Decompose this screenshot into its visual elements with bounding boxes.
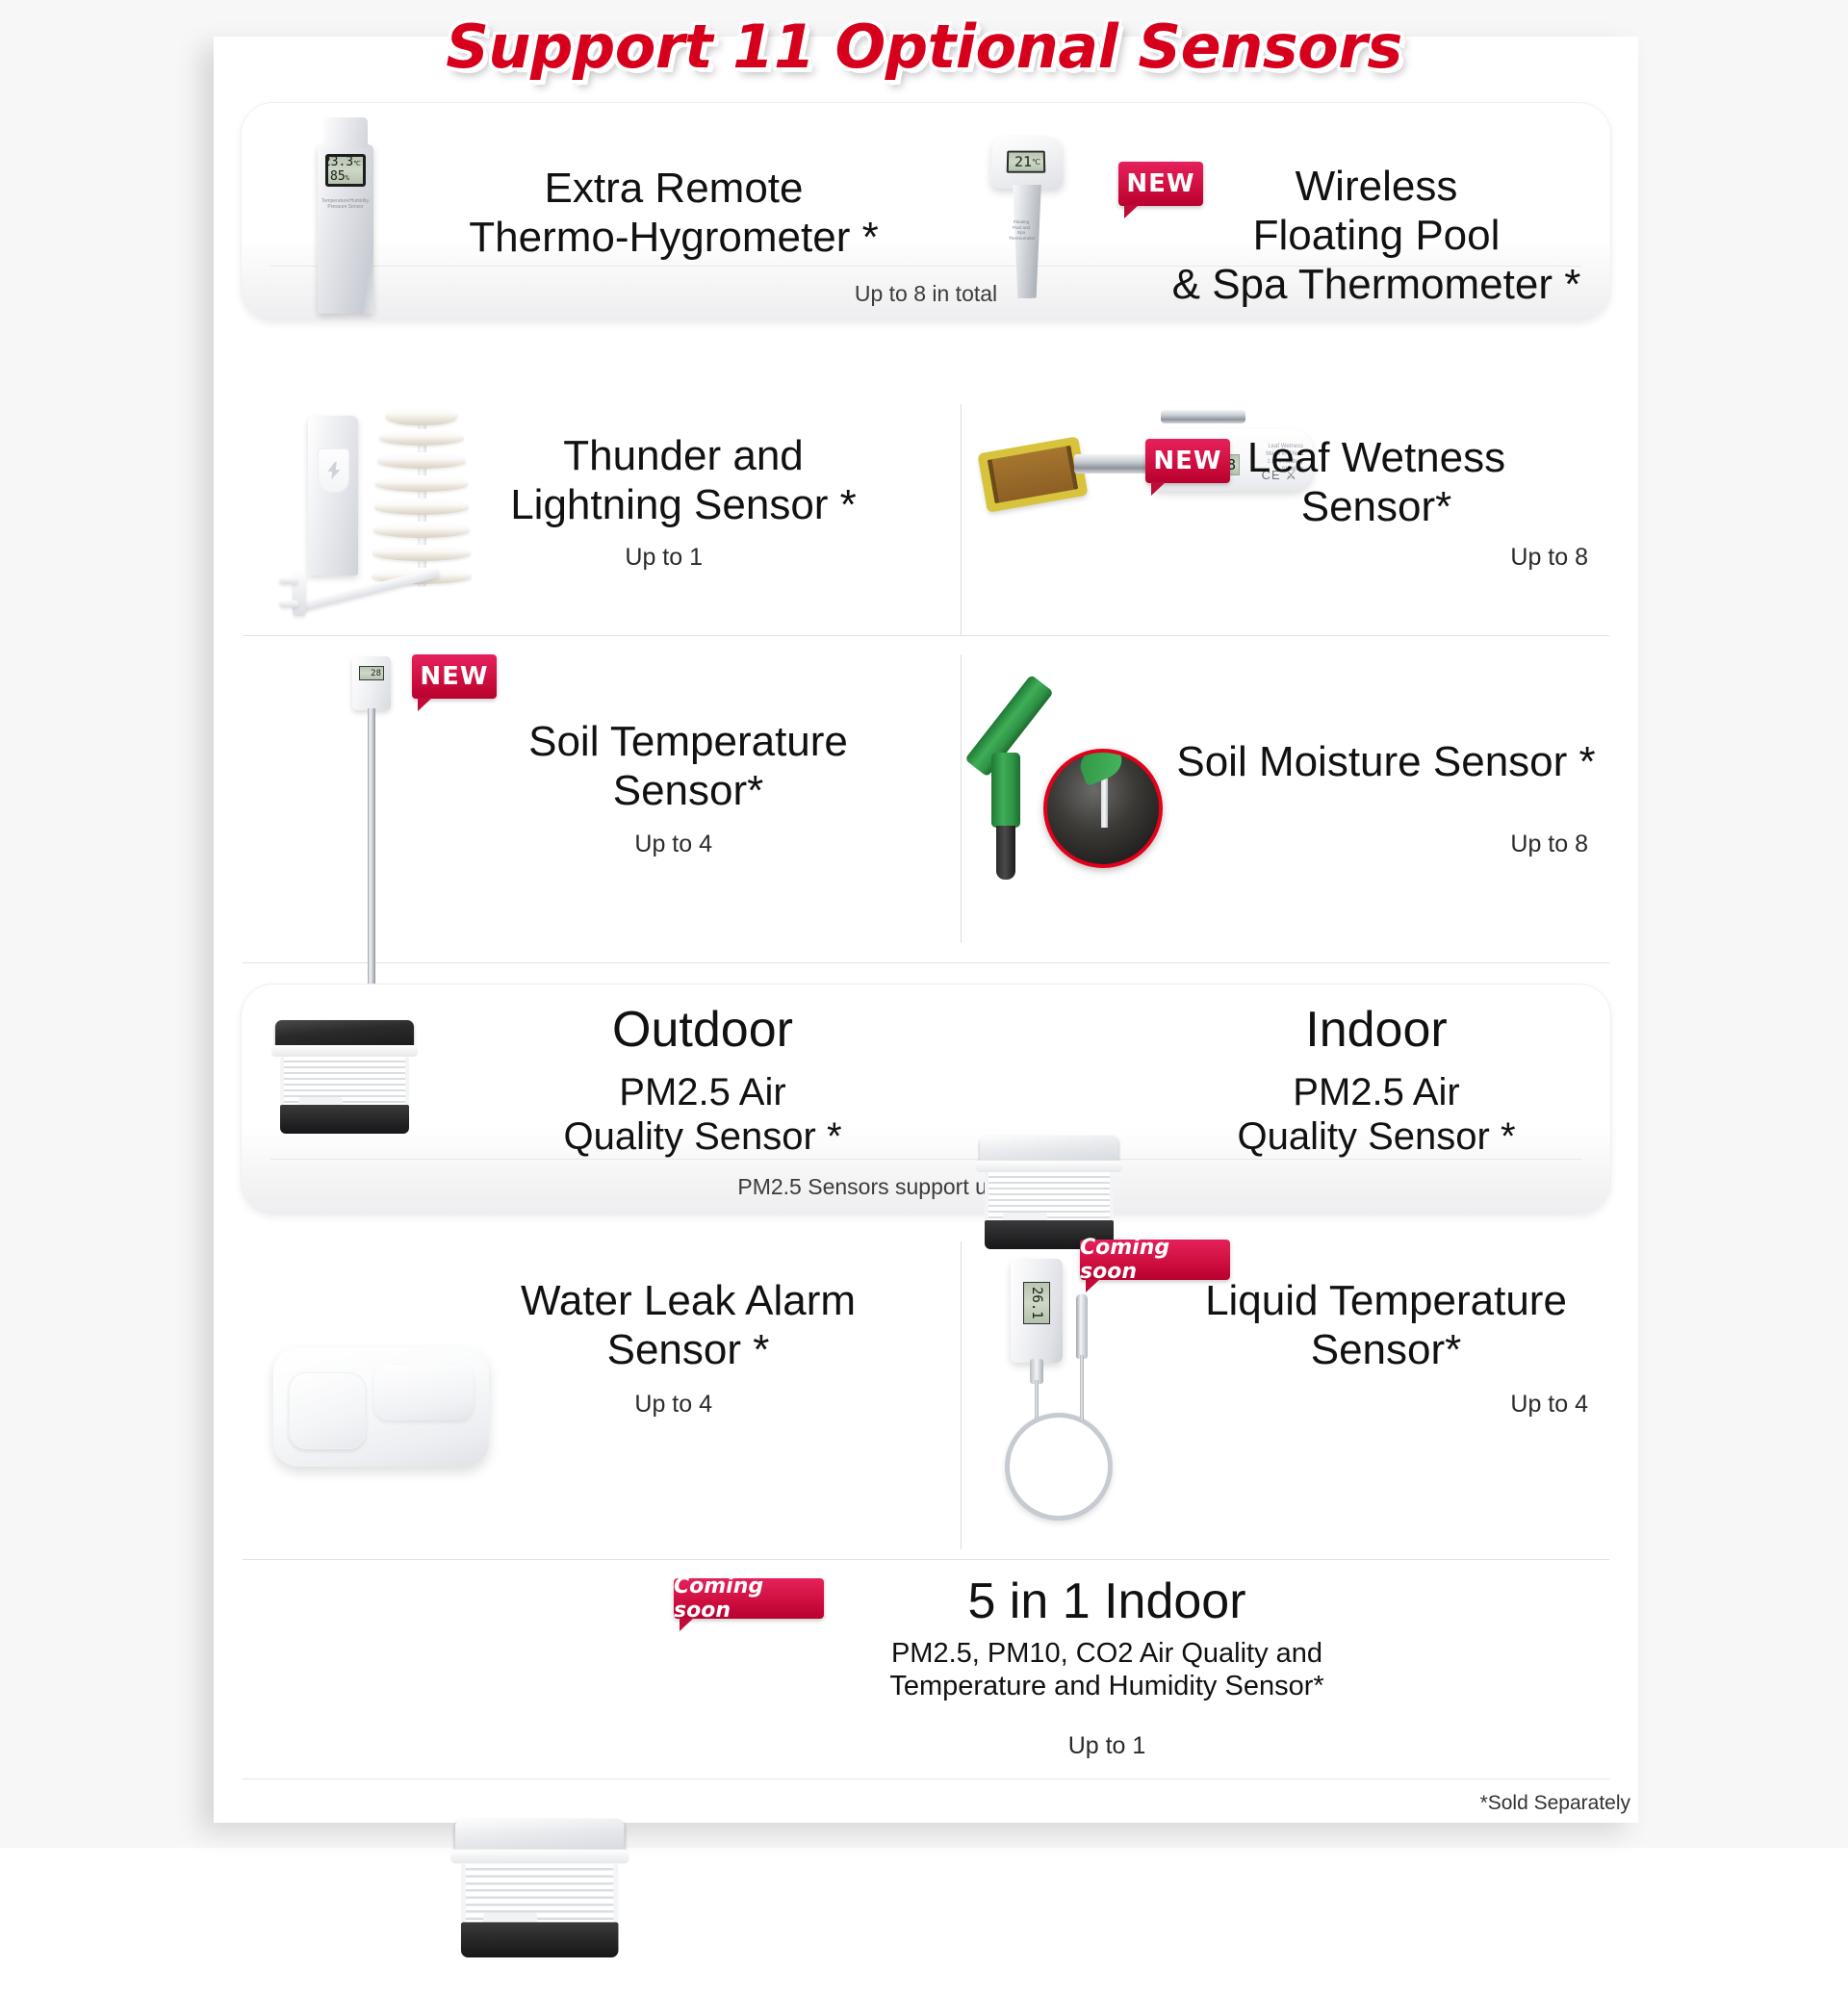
probe-tip xyxy=(1076,1293,1088,1359)
label-line: Soil Temperature xyxy=(423,717,953,766)
soil-moisture-sensor-image xyxy=(982,683,1174,895)
housing-rim xyxy=(976,1161,1122,1172)
outdoor-pm25-title: Outdoor xyxy=(452,1001,953,1059)
row-pm25-footer: PM2.5 Sensors support up to 4 in total xyxy=(242,1160,1610,1214)
label-line: Indoor xyxy=(1126,1001,1627,1059)
housing-rim xyxy=(271,1045,418,1057)
label-line: & Spa Thermometer * xyxy=(1155,260,1598,309)
5-in-1-indoor-subtitle: PM2.5, PM10, CO2 Air Quality and Tempera… xyxy=(808,1638,1405,1702)
lcd-temp-unit: ℃ xyxy=(353,160,361,167)
thunder-and-lightning-sensor-quantity: Up to 1 xyxy=(414,544,703,572)
page-title-container: Support 11 Optional Sensors xyxy=(0,0,1848,92)
extra-remote-thermo-hygrometer-label: Extra Remote Thermo-Hygrometer * xyxy=(404,164,943,262)
row-divider-vertical xyxy=(961,654,962,943)
thunder-and-lightning-sensor-label: Thunder and Lightning Sensor * xyxy=(414,431,953,529)
lightning-sensor-image xyxy=(308,416,358,575)
5-in-1-indoor-sensor-image xyxy=(450,1819,674,1995)
badge-new-soil-temperature: NEW xyxy=(412,654,497,699)
5-in-1-indoor-quantity: Up to 1 xyxy=(808,1732,1405,1760)
soil-temperature-sensor-label: Soil Temperature Sensor* xyxy=(423,717,953,815)
footer-divider xyxy=(243,1778,1609,1779)
row-divider-horizontal xyxy=(243,1559,1609,1560)
page-title: Support 11 Optional Sensors xyxy=(446,12,1402,82)
badge-label: NEW xyxy=(1153,447,1221,475)
lcd-hum-unit: % xyxy=(346,174,349,182)
badge-label: Coming soon xyxy=(674,1574,824,1623)
row-divider-vertical xyxy=(961,404,962,635)
badge-coming-soon-liquid-temperature: Coming soon xyxy=(1080,1240,1230,1280)
liquid-temperature-sensor-label: Liquid Temperature Sensor* xyxy=(1145,1276,1627,1374)
lightning-bolt-icon xyxy=(318,448,349,493)
lcd-value: 28 xyxy=(371,669,381,678)
water-leak-alarm-sensor-quantity: Up to 4 xyxy=(423,1391,712,1419)
label-line: Lightning Sensor * xyxy=(414,480,953,529)
label-line: Quality Sensor * xyxy=(1126,1114,1627,1159)
pool-thermometer-image: 21℃ Floating Pool and Spa Thermometer xyxy=(991,135,1063,189)
fork-prong xyxy=(996,826,1015,880)
label-line: Quality Sensor * xyxy=(452,1114,953,1159)
alarm-button xyxy=(289,1372,366,1449)
row-divider-horizontal xyxy=(243,962,1609,963)
label-line: Sensor* xyxy=(1145,1325,1627,1374)
leaf-shape xyxy=(1075,749,1127,786)
label-line: PM2.5, PM10, CO2 Air Quality and xyxy=(808,1638,1405,1671)
badge-coming-soon-5-in-1: Coming soon xyxy=(674,1578,824,1619)
lcd-temp-value: 23.3 xyxy=(325,155,353,169)
wetness-pad-grid xyxy=(988,446,1079,504)
label-line: Extra Remote xyxy=(404,164,943,213)
indoor-pm25-sensor-image xyxy=(976,1136,1122,1251)
thermo-hygrometer-image: 23.3℃ 85% Temperature/Humidity, Pressure… xyxy=(318,144,373,314)
label-line: Sensor * xyxy=(423,1325,953,1374)
badge-label: NEW xyxy=(420,662,488,691)
label-line: Wireless xyxy=(1155,162,1598,211)
mounting-screw xyxy=(279,601,298,607)
indoor-pm25-title: Indoor xyxy=(1126,1001,1627,1059)
badge-new-pool-thermometer: NEW xyxy=(1118,162,1203,206)
soil-temperature-sensor-image: 28 xyxy=(352,656,391,710)
housing-rim xyxy=(450,1850,629,1864)
soil-moisture-sensor-quantity: Up to 8 xyxy=(1299,831,1588,858)
outdoor-pm25-sensor-image xyxy=(271,1020,418,1136)
badge-new-leaf-wetness: NEW xyxy=(1145,439,1230,483)
probe-cable xyxy=(1080,1355,1084,1420)
lcd-value: 21 xyxy=(1014,153,1032,169)
base-housing xyxy=(280,1105,409,1134)
wetness-pad xyxy=(977,436,1088,512)
lcd-unit: ℃ xyxy=(1032,158,1040,166)
label-line: Soil Moisture Sensor * xyxy=(1145,737,1627,786)
label-line: Sensor* xyxy=(1136,482,1617,531)
thermo-hygrometer-lcd: 23.3℃ 85% xyxy=(325,154,366,187)
row-divider-vertical xyxy=(961,1241,962,1549)
device-caption: Temperature/Humidity, Pressure Sensor xyxy=(318,198,373,210)
label-line: Floating Pool xyxy=(1155,211,1598,260)
row-divider-horizontal xyxy=(243,635,1609,636)
5-in-1-indoor-title: 5 in 1 Indoor xyxy=(808,1573,1405,1630)
cable-coil xyxy=(1005,1413,1113,1521)
lcd-hum-value: 85 xyxy=(330,169,346,184)
liquid-temperature-sensor-quantity: Up to 4 xyxy=(1299,1391,1588,1419)
soil-moisture-sensor-label: Soil Moisture Sensor * xyxy=(1145,737,1627,786)
label-line: Water Leak Alarm xyxy=(423,1276,953,1325)
label-line: 5 in 1 Indoor xyxy=(808,1573,1405,1630)
sensor-clip xyxy=(1161,410,1245,423)
label-line: Temperature and Humidity Sensor* xyxy=(808,1671,1405,1703)
infographic-page: Support 11 Optional Sensors Up to 8 in t… xyxy=(0,0,1848,1848)
soil-temperature-sensor-quantity: Up to 4 xyxy=(423,831,712,858)
wireless-floating-pool-spa-thermometer-label: Wireless Floating Pool & Spa Thermometer… xyxy=(1155,162,1598,309)
footnote: *Sold Separately xyxy=(1480,1792,1630,1815)
outdoor-pm25-subtitle: PM2.5 Air Quality Sensor * xyxy=(452,1070,953,1160)
fork-arm xyxy=(991,753,1020,828)
sensor-body: 26.1 xyxy=(1011,1259,1063,1363)
label-line: Outdoor xyxy=(452,1001,953,1059)
label-line: Sensor* xyxy=(423,766,953,815)
device-caption: Floating Pool and Spa Thermometer xyxy=(1009,219,1034,241)
soil-temperature-lcd: 28 xyxy=(359,666,384,680)
label-line: PM2.5 Air xyxy=(452,1070,953,1114)
pool-thermometer-lcd: 21℃ xyxy=(1007,151,1046,173)
label-line: PM2.5 Air xyxy=(1126,1070,1627,1114)
indoor-pm25-subtitle: PM2.5 Air Quality Sensor * xyxy=(1126,1070,1627,1160)
lcd-value: 26.1 xyxy=(1029,1287,1044,1319)
label-line: Thunder and xyxy=(414,431,953,480)
water-leak-alarm-sensor-label: Water Leak Alarm Sensor * xyxy=(423,1276,953,1374)
base-housing xyxy=(461,1922,618,1957)
liquid-temperature-lcd: 26.1 xyxy=(1023,1282,1050,1324)
mounting-screw xyxy=(279,577,298,584)
leaf-wetness-sensor-quantity: Up to 8 xyxy=(1299,544,1588,572)
device-cap xyxy=(323,117,368,148)
label-line: Thermo-Hygrometer * xyxy=(404,213,943,262)
badge-label: Coming soon xyxy=(1080,1236,1230,1284)
badge-label: NEW xyxy=(1126,169,1194,198)
